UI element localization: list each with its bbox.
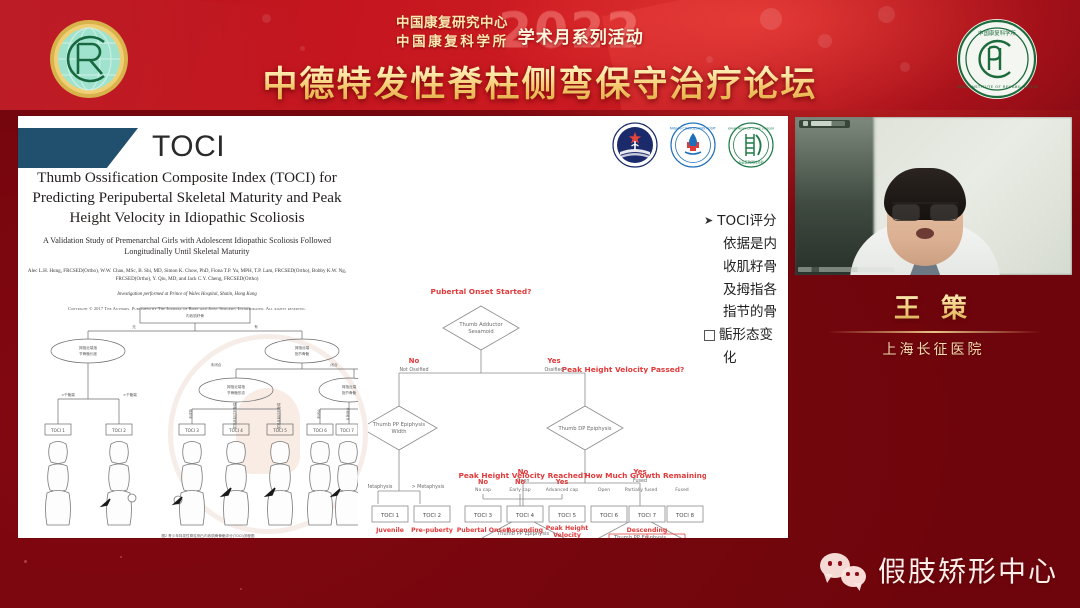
paper-institution: Investigation performed at Prince of Wal… [22, 292, 352, 297]
svg-text:Pubertal Onset Started?: Pubertal Onset Started? [431, 287, 532, 296]
svg-text:<干骺端: <干骺端 [61, 392, 75, 397]
svg-text:成熟未超过干骺端: 成熟未超过干骺端 [232, 402, 237, 429]
svg-text:TOCI 8: TOCI 8 [675, 513, 695, 519]
toci-outcome-row: No No cap No Early cap Yes Advanced cap … [368, 476, 708, 538]
svg-text:TOCI 3: TOCI 3 [473, 513, 492, 519]
svg-text:Yes: Yes [555, 478, 569, 486]
svg-text:Partially fused: Partially fused [625, 487, 658, 493]
slide-accent-tab [18, 128, 138, 168]
organizer-line-2: 中国康复科学所 [396, 33, 509, 51]
svg-text:SHANGHAI CHANGZHENG HOSPITAL: SHANGHAI CHANGZHENG HOSPITAL [670, 127, 716, 131]
header-bokeh-dot [818, 34, 832, 48]
svg-text:No: No [515, 478, 526, 486]
paper-header-block: Thumb Ossification Composite Index (TOCI… [22, 168, 352, 311]
participant-name-tag [799, 120, 850, 128]
bullet-text: 收肌籽骨 [723, 260, 777, 275]
svg-text:片状闭合: 片状闭合 [345, 407, 350, 421]
header-bokeh-dot [262, 14, 271, 23]
svg-text:拇指远端: 拇指远端 [295, 345, 310, 350]
bullet-text: 骺形态变 [719, 328, 773, 343]
svg-text:未闭合: 未闭合 [211, 362, 222, 367]
svg-text:TOCI 4: TOCI 4 [228, 428, 243, 433]
bullet-text: 指节的骨 [723, 305, 777, 320]
svg-text:No: No [409, 357, 420, 365]
svg-text:TOCI 2: TOCI 2 [111, 428, 126, 433]
chinese-toci-flowchart: 内收肌籽骨 拇指近端指节骨骺长度 拇指远端指节骨骺 拇指近端指节骨骺形态 拇指近… [44, 306, 358, 534]
shanghai-changzheng-hospital-logo: SHANGHAI CHANGZHENG HOSPITAL [670, 122, 716, 168]
header-bokeh-dot [760, 8, 782, 30]
svg-text:拇指近端指: 拇指近端指 [79, 345, 97, 350]
svg-text:No: No [478, 478, 489, 486]
bg-speck [240, 588, 242, 590]
svg-text:>干骺端: >干骺端 [123, 392, 137, 397]
wechat-watermark: 假肢矫形中心 [820, 550, 1058, 590]
svg-text:Thumb PP Epiphysis: Thumb PP Epiphysis [372, 422, 425, 428]
svg-text:Thumb Adductor: Thumb Adductor [458, 322, 503, 328]
svg-text:Juvenile: Juvenile [375, 527, 404, 534]
organizer-line-1: 中国康复研究中心 [396, 14, 509, 32]
paper-subtitle: A Validation Study of Premenarchal Girls… [22, 236, 352, 257]
speaker-name: 王 策 [795, 288, 1072, 325]
slide-bullet-column: ➤ TOCI评分 依据是内 收肌籽骨 及拇指各 指节的骨 [704, 214, 782, 366]
svg-text:No: No [518, 468, 529, 476]
bullet-item: 及拇指各 [704, 283, 782, 298]
svg-text:Pubertal Onset: Pubertal Onset [457, 527, 510, 534]
speaker-organization: 上海长征医院 [795, 339, 1072, 359]
svg-text:闭合: 闭合 [330, 362, 338, 367]
wechat-eye [846, 572, 850, 576]
svg-text:TOCI 7: TOCI 7 [637, 513, 656, 519]
event-series-label: 学术月系列活动 [518, 23, 644, 48]
cirs-logo: 中国康复科学所 CHINA INSTITUTE OF REHABILITATIO… [956, 18, 1038, 100]
speaker-video-feed[interactable] [795, 117, 1072, 275]
bullet-text: 及拇指各 [723, 283, 777, 298]
svg-text:Thumb DP Epiphysis: Thumb DP Epiphysis [557, 426, 611, 432]
wechat-eye [838, 561, 843, 566]
svg-text:Pre-puberty: Pre-puberty [411, 527, 453, 534]
speaker-name-plate: 王 策 上海长征医院 [795, 288, 1072, 372]
svg-text:Peak Height: Peak Height [546, 525, 589, 532]
bullet-item: 指节的骨 [704, 305, 782, 320]
svg-text:未闭合: 未闭合 [316, 408, 321, 419]
wechat-icon [820, 553, 866, 587]
organizer-names: 中国康复研究中心 中国康复科学所 [396, 14, 509, 51]
svg-text:DEPARTMENT OF SPINE SURGERY: DEPARTMENT OF SPINE SURGERY [728, 127, 774, 131]
bullet-item: ➤ TOCI评分 [704, 214, 782, 229]
svg-text:Open: Open [598, 487, 610, 493]
svg-text:未成熟: 未成熟 [188, 408, 193, 419]
svg-text:TOCI 1: TOCI 1 [380, 513, 399, 519]
placeholder-box-icon [704, 330, 715, 341]
bullet-text: 化 [723, 351, 737, 366]
event-header-banner: 2022 中国康复研究中心 中国康复科学所 学术月系列活动 中德特发性脊柱侧弯保… [0, 0, 1080, 110]
svg-text:内收肌籽骨: 内收肌籽骨 [186, 313, 204, 318]
broadcast-stage: 2022 中国康复研究中心 中国康复科学所 学术月系列活动 中德特发性脊柱侧弯保… [0, 0, 1080, 608]
svg-text:Descending: Descending [627, 527, 668, 534]
svg-text:有: 有 [254, 324, 258, 329]
svg-text:节骨骺形态: 节骨骺形态 [227, 390, 245, 395]
speaker-divider [827, 331, 1041, 333]
bullet-item: 化 [704, 351, 782, 366]
svg-text:Not Ossified: Not Ossified [399, 367, 428, 373]
slide-tab-label: TOCI [152, 130, 225, 164]
svg-text:TOCI 3: TOCI 3 [184, 428, 199, 433]
bullet-item: 骺形态变 [704, 328, 782, 343]
event-main-title: 中德特发性脊柱侧弯保守治疗论坛 [0, 56, 1080, 107]
svg-text:TOCI 5: TOCI 5 [272, 428, 287, 433]
presentation-slide[interactable]: TOCI [18, 116, 788, 538]
wechat-account-name: 假肢矫形中心 [878, 550, 1058, 590]
svg-text:拇指近端指: 拇指近端指 [227, 384, 245, 389]
svg-text:Yes: Yes [546, 357, 560, 365]
bullet-item: 收肌籽骨 [704, 260, 782, 275]
svg-text:成熟且超过干骺端: 成熟且超过干骺端 [276, 402, 281, 429]
svg-text:Yes: Yes [632, 468, 646, 476]
slide-institution-logos: SHANGHAI CHANGZHENG HOSPITAL DEPARTM [612, 122, 774, 168]
bullet-text: 依据是内 [723, 237, 777, 252]
speaker-glasses [892, 202, 958, 217]
svg-text:Ossified: Ossified [544, 367, 563, 373]
svg-text:Peak Height Velocity Passed?: Peak Height Velocity Passed? [562, 365, 685, 374]
svg-text:指节骨骺: 指节骨骺 [295, 351, 310, 356]
bg-speck [24, 560, 27, 563]
department-of-spine-surgery-logo: DEPARTMENT OF SPINE SURGERY 长征医院脊柱外科 [728, 122, 774, 168]
svg-text:节骨骺长度: 节骨骺长度 [79, 351, 97, 356]
naval-medical-university-logo [612, 122, 658, 168]
tag-mic-icon [803, 121, 808, 126]
svg-text:Velocity: Velocity [553, 532, 581, 538]
bullet-item: 依据是内 [704, 237, 782, 252]
bg-speck [120, 556, 122, 558]
bullet-text: TOCI评分 [717, 214, 776, 229]
paper-title: Thumb Ossification Composite Index (TOCI… [22, 168, 352, 227]
svg-text:TOCI 7: TOCI 7 [339, 428, 354, 433]
header-bokeh-dot [300, 46, 305, 51]
header-subtitle-block: 中国康复研究中心 中国康复科学所 学术月系列活动 [396, 14, 644, 51]
video-bottom-caption-strip [798, 267, 894, 272]
wechat-eye [828, 561, 833, 566]
svg-text:No cap: No cap [475, 487, 491, 493]
svg-text:TOCI 5: TOCI 5 [557, 513, 576, 519]
svg-text:Fused: Fused [675, 487, 689, 493]
svg-text:TOCI 6: TOCI 6 [599, 513, 619, 519]
arrow-bullet-icon: ➤ [704, 215, 713, 227]
svg-text:长征医院脊柱外科: 长征医院脊柱外科 [738, 160, 764, 165]
svg-text:拇指近端: 拇指近端 [342, 384, 357, 389]
svg-text:Early cap: Early cap [509, 487, 530, 493]
header-bokeh-dot [878, 6, 895, 23]
svg-text:指节骨骺: 指节骨骺 [342, 390, 357, 395]
svg-text:中国康复科学所: 中国康复科学所 [978, 29, 1016, 37]
svg-text:TOCI 1: TOCI 1 [50, 428, 65, 433]
svg-text:无: 无 [132, 325, 136, 329]
wechat-bubble-small [841, 566, 866, 587]
svg-text:TOCI 6: TOCI 6 [312, 428, 327, 433]
svg-text:Advanced cap: Advanced cap [546, 487, 578, 493]
svg-text:TOCI 4: TOCI 4 [515, 513, 535, 519]
svg-text:Ascending: Ascending [507, 527, 543, 534]
svg-text:TOCI 2: TOCI 2 [422, 513, 441, 519]
tag-label-placeholder [811, 121, 845, 126]
paper-authors: Alec L.H. Hung, FRCSED(Ortho), W.W. Chau… [22, 268, 352, 283]
figure-caption: 图2 青少年特发性脊柱侧凸内收肌骨骨骺评分(TOCI)流程图 [88, 534, 328, 538]
svg-text:CHINA INSTITUTE OF REHABILITAT: CHINA INSTITUTE OF REHABILITATION [956, 84, 1038, 89]
wechat-eye [855, 572, 859, 576]
svg-text:Width: Width [391, 429, 406, 435]
speaker-mouth [916, 228, 934, 239]
svg-text:Sesamoid: Sesamoid [468, 329, 493, 335]
